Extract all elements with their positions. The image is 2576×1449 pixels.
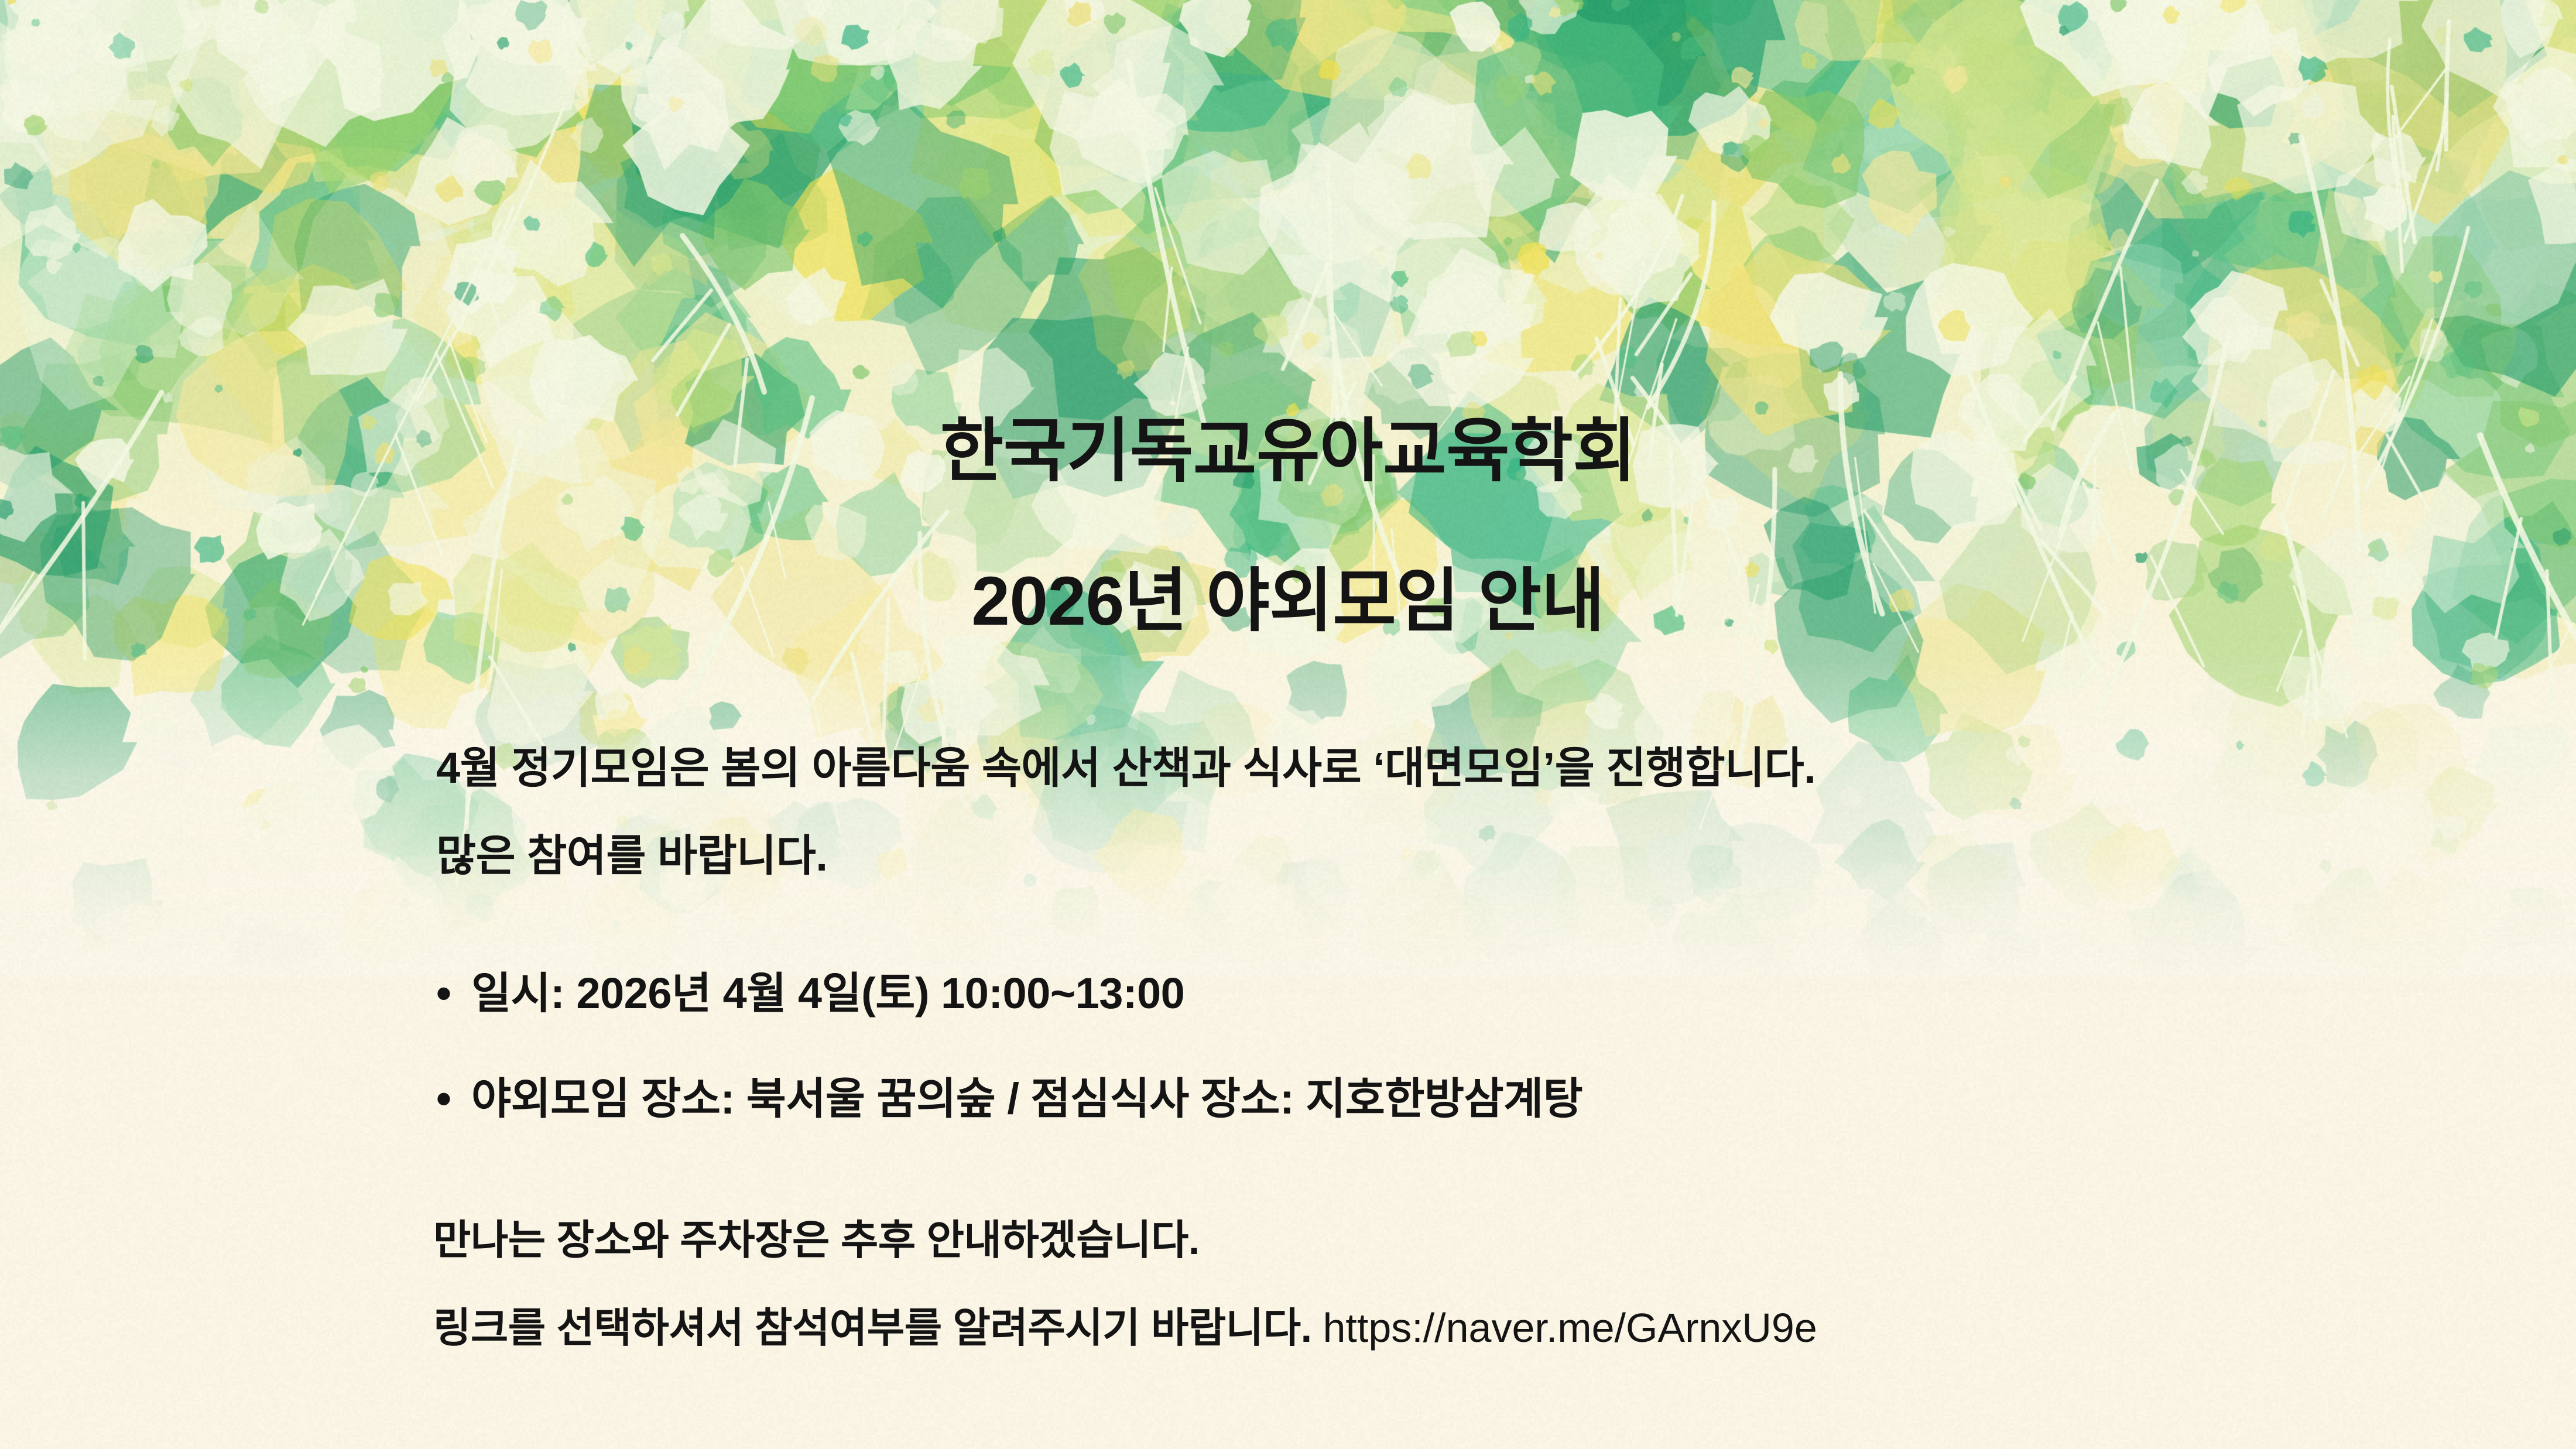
bullet-dot-icon: •	[436, 972, 471, 1015]
watercolor-background	[0, 0, 2576, 982]
list-item: • 야외모임 장소: 북서울 꿈의숲 / 점심식사 장소: 지호한방삼계탕	[436, 1077, 1582, 1121]
list-item: • 일시: 2026년 4월 4일(토) 10:00~13:00	[436, 972, 1184, 1015]
note-line-1: 만나는 장소와 주차장은 추후 안내하겠습니다.	[433, 1207, 1200, 1266]
poster-canvas: 한국기독교유아교육학회 2026년 야외모임 안내 4월 정기모임은 봄의 아름…	[0, 0, 2576, 1449]
background-fade	[0, 655, 2576, 982]
intro-line-1: 4월 정기모임은 봄의 아름다움 속에서 산책과 식사로 ‘대면모임’을 진행합…	[436, 746, 1815, 790]
note-line-2-prefix: 링크를 선택하셔서 참석여부를 알려주시기 바랍니다.	[433, 1305, 1323, 1351]
bullet-label: 야외모임 장소: 북서울 꿈의숲 / 점심식사 장소: 지호한방삼계탕	[471, 1077, 1582, 1121]
bullet-dot-icon: •	[436, 1077, 471, 1121]
note-line-2: 링크를 선택하셔서 참석여부를 알려주시기 바랍니다. https://nave…	[433, 1295, 1817, 1354]
bullet-label: 일시: 2026년 4월 4일(토) 10:00~13:00	[471, 972, 1184, 1015]
rsvp-link[interactable]: https://naver.me/GArnxU9e	[1323, 1305, 1817, 1351]
poster-title: 2026년 야외모임 안내	[0, 567, 2576, 636]
background-seam	[0, 973, 2576, 993]
organization-title: 한국기독교유아교육학회	[0, 417, 2576, 486]
intro-line-2: 많은 참여를 바랍니다.	[436, 834, 827, 878]
